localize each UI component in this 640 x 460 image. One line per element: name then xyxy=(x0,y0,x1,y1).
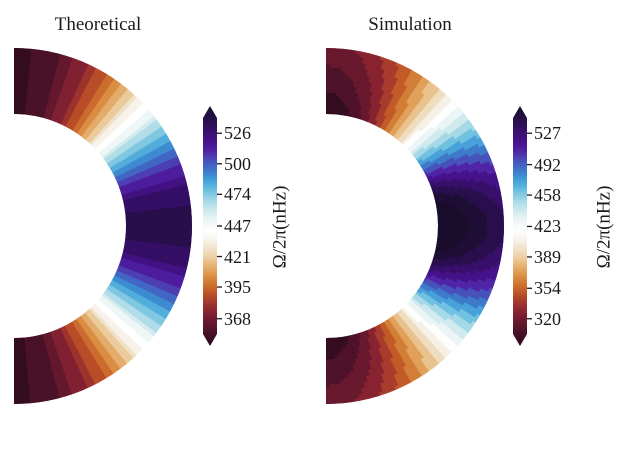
colorbar-tick-label: 389 xyxy=(534,248,561,266)
colorbar-tick-label: 421 xyxy=(224,248,251,266)
colorbar-tick-label: 458 xyxy=(534,186,561,204)
colorbar-right-ticks xyxy=(527,133,532,319)
colorbar-tick-label: 395 xyxy=(224,278,251,296)
colorbar-tick-label: 447 xyxy=(224,217,251,235)
panel-title-theoretical: Theoretical xyxy=(0,14,196,36)
colorbar-tick-label: 500 xyxy=(224,155,251,173)
colorbar-tick-label: 423 xyxy=(534,217,561,235)
figure-canvas: Theoretical Simulation 5265004744 xyxy=(0,0,640,460)
simulation-wedge-svg xyxy=(312,36,512,416)
colorbar-simulation: 527492458423389354320 Ω/2π(nHz) xyxy=(508,106,634,346)
colorbar-tick-label: 527 xyxy=(534,124,561,142)
colorbar-left-ticks xyxy=(217,133,222,318)
theoretical-wedge-svg xyxy=(0,36,200,416)
colorbar-right-ticklabels: 527492458423389354320 xyxy=(534,106,594,346)
simulation-contour-bands xyxy=(326,48,504,404)
panel-title-simulation: Simulation xyxy=(312,14,508,36)
colorbar-tick-label: 526 xyxy=(224,124,251,142)
colorbar-tick-label: 492 xyxy=(534,156,561,174)
colorbar-tick-label: 368 xyxy=(224,310,251,328)
theoretical-contour-bands xyxy=(14,48,192,404)
colorbar-tick-label: 320 xyxy=(534,310,561,328)
plot-simulation xyxy=(312,36,512,416)
colorbar-left-axis-label: Ω/2π(nHz) xyxy=(269,186,291,269)
colorbar-tick-label: 474 xyxy=(224,185,251,203)
plot-theoretical xyxy=(0,36,200,416)
colorbar-theoretical: 526500474447421395368 Ω/2π(nHz) xyxy=(198,106,308,346)
colorbar-tick-label: 354 xyxy=(534,279,561,297)
colorbar-right-axis-label: Ω/2π(nHz) xyxy=(593,186,615,269)
